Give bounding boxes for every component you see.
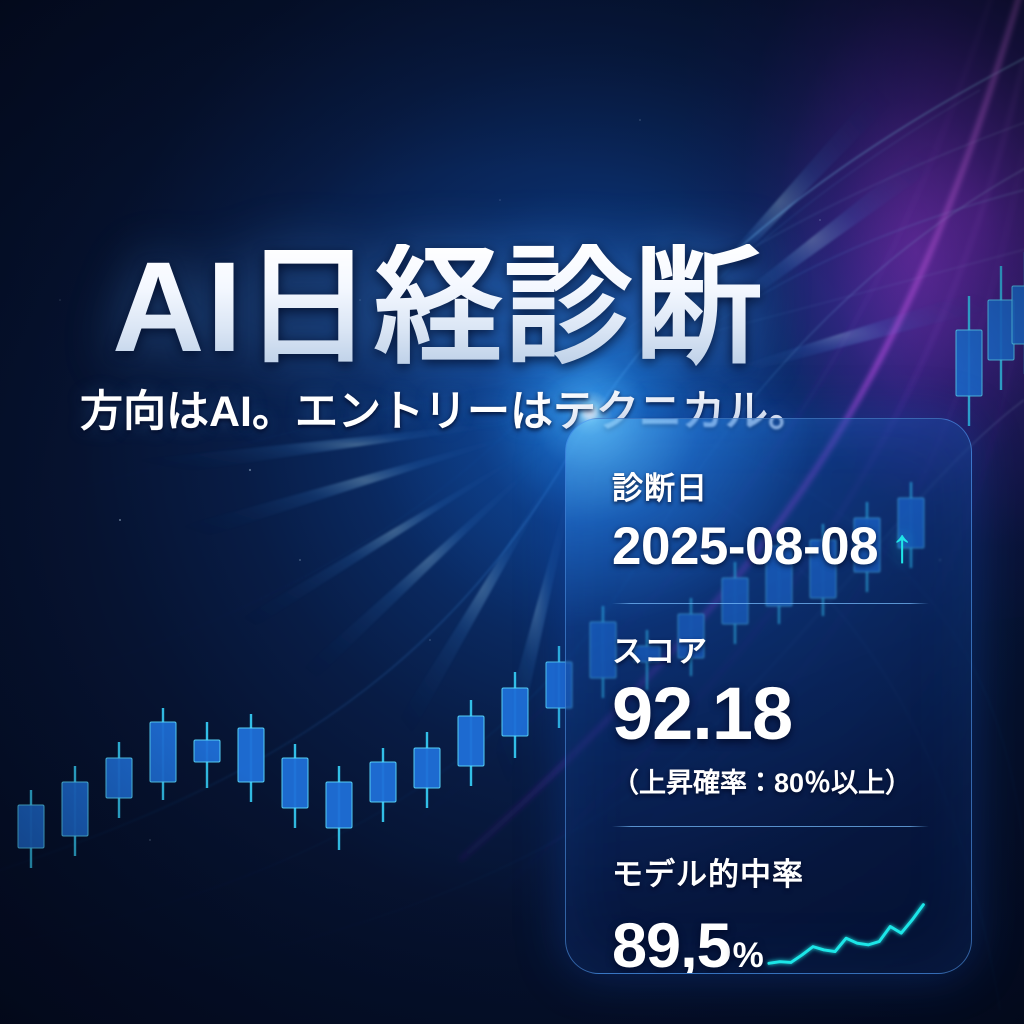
date-label: 診断日 — [612, 463, 929, 508]
accuracy-sparkline — [763, 898, 929, 970]
accuracy-section: モデル的中率 89,5% — [612, 849, 929, 974]
score-note: （上昇確率：80％以上） — [612, 761, 929, 800]
divider-2 — [612, 826, 929, 827]
divider-1 — [612, 603, 929, 604]
trend-up-icon: ↑ — [890, 523, 914, 571]
accuracy-label: モデル的中率 — [612, 849, 929, 894]
poster-canvas: AI日経診断 方向はAI。エントリーはテクニカル。 診断日 2025-08-08… — [0, 0, 1024, 1024]
date-section: 診断日 2025-08-08 ↑ — [612, 463, 929, 577]
page-title: AI日経診断 — [112, 244, 764, 372]
accuracy-value: 89,5 — [612, 911, 731, 974]
date-value-row: 2025-08-08 ↑ — [612, 516, 929, 577]
accuracy-unit: % — [733, 936, 763, 974]
score-value: 92.18 — [612, 677, 929, 751]
accuracy-value-row: 89,5% — [612, 915, 763, 974]
diagnosis-summary-card: 診断日 2025-08-08 ↑ スコア 92.18 （上昇確率：80％以上） … — [565, 418, 972, 974]
date-value: 2025-08-08 — [612, 516, 878, 577]
score-section: スコア 92.18 （上昇確率：80％以上） — [612, 626, 929, 800]
score-label: スコア — [612, 626, 929, 671]
